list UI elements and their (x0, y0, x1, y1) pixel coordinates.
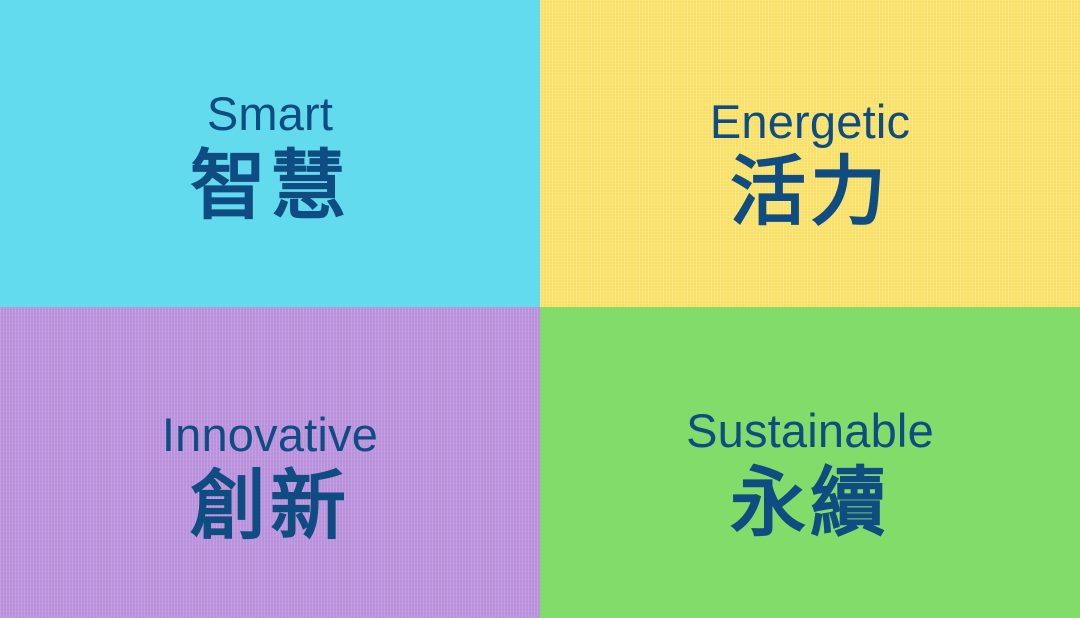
panel-innovative[interactable]: Innovative 創新 (0, 307, 540, 618)
panel-innovative-content: Innovative 創新 (0, 307, 540, 544)
panel-smart-chinese-label: 智慧 (190, 148, 350, 224)
panel-smart-content: Smart 智慧 (0, 0, 540, 224)
brand-values-grid: Smart 智慧 Energetic 活力 Innovative 創新 Sust… (0, 0, 1080, 618)
panel-sustainable-chinese-label: 永續 (730, 465, 890, 541)
panel-sustainable-english-label: Sustainable (686, 407, 934, 454)
panel-sustainable-content: Sustainable 永續 (540, 307, 1080, 541)
panel-innovative-chinese-label: 創新 (190, 468, 350, 544)
panel-energetic-chinese-label: 活力 (730, 154, 890, 230)
panel-energetic-content: Energetic 活力 (540, 0, 1080, 230)
panel-energetic[interactable]: Energetic 活力 (540, 0, 1080, 307)
panel-smart[interactable]: Smart 智慧 (0, 0, 540, 307)
panel-smart-english-label: Smart (207, 90, 333, 137)
panel-sustainable[interactable]: Sustainable 永續 (540, 307, 1080, 618)
panel-energetic-english-label: Energetic (710, 98, 910, 145)
panel-innovative-english-label: Innovative (162, 411, 378, 458)
